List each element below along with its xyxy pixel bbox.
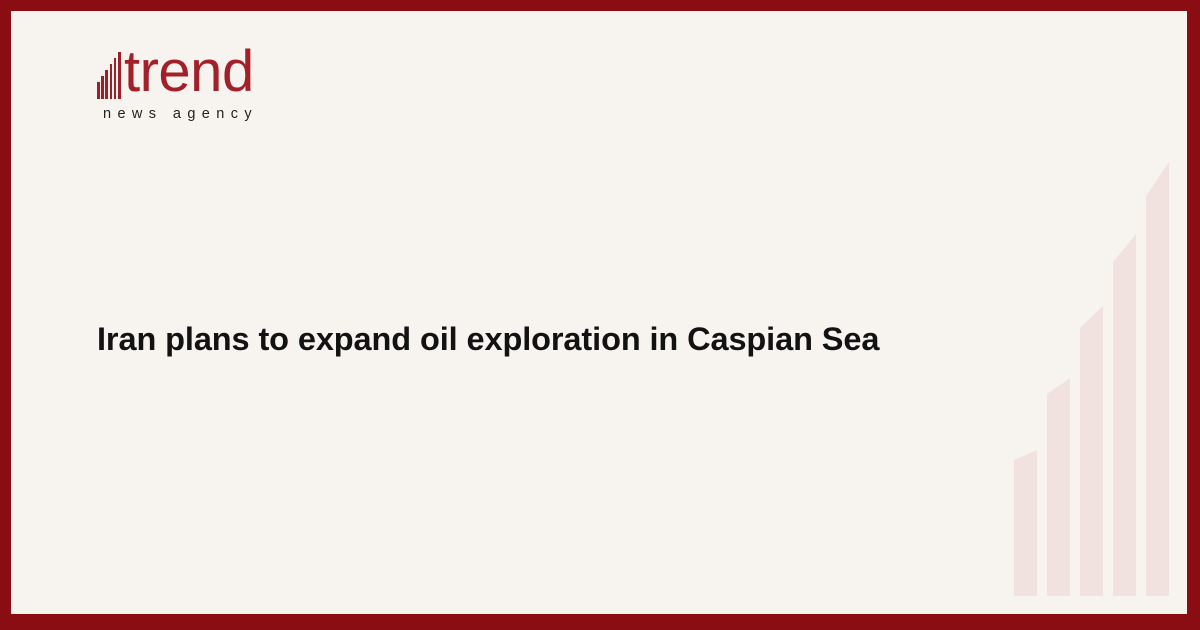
logo-tagline: news agency [103,106,357,122]
decoration-bar-1 [1014,450,1037,596]
ascending-bars-decoration [1012,174,1187,614]
decoration-bar-2 [1047,378,1070,596]
decoration-bar-3 [1080,306,1103,596]
card-canvas: trend news agency Iran plans to expand o… [11,11,1187,614]
headline-title: Iran plans to expand oil exploration in … [97,317,1027,361]
logo-wordmark: trend [124,44,254,100]
decoration-bar-4 [1113,234,1136,596]
decoration-bar-5 [1146,162,1169,596]
ascending-bars-icon [97,52,123,99]
news-card: trend news agency Iran plans to expand o… [0,0,1200,630]
logo-mark: trend [97,44,357,102]
brand-logo[interactable]: trend news agency [97,44,357,122]
